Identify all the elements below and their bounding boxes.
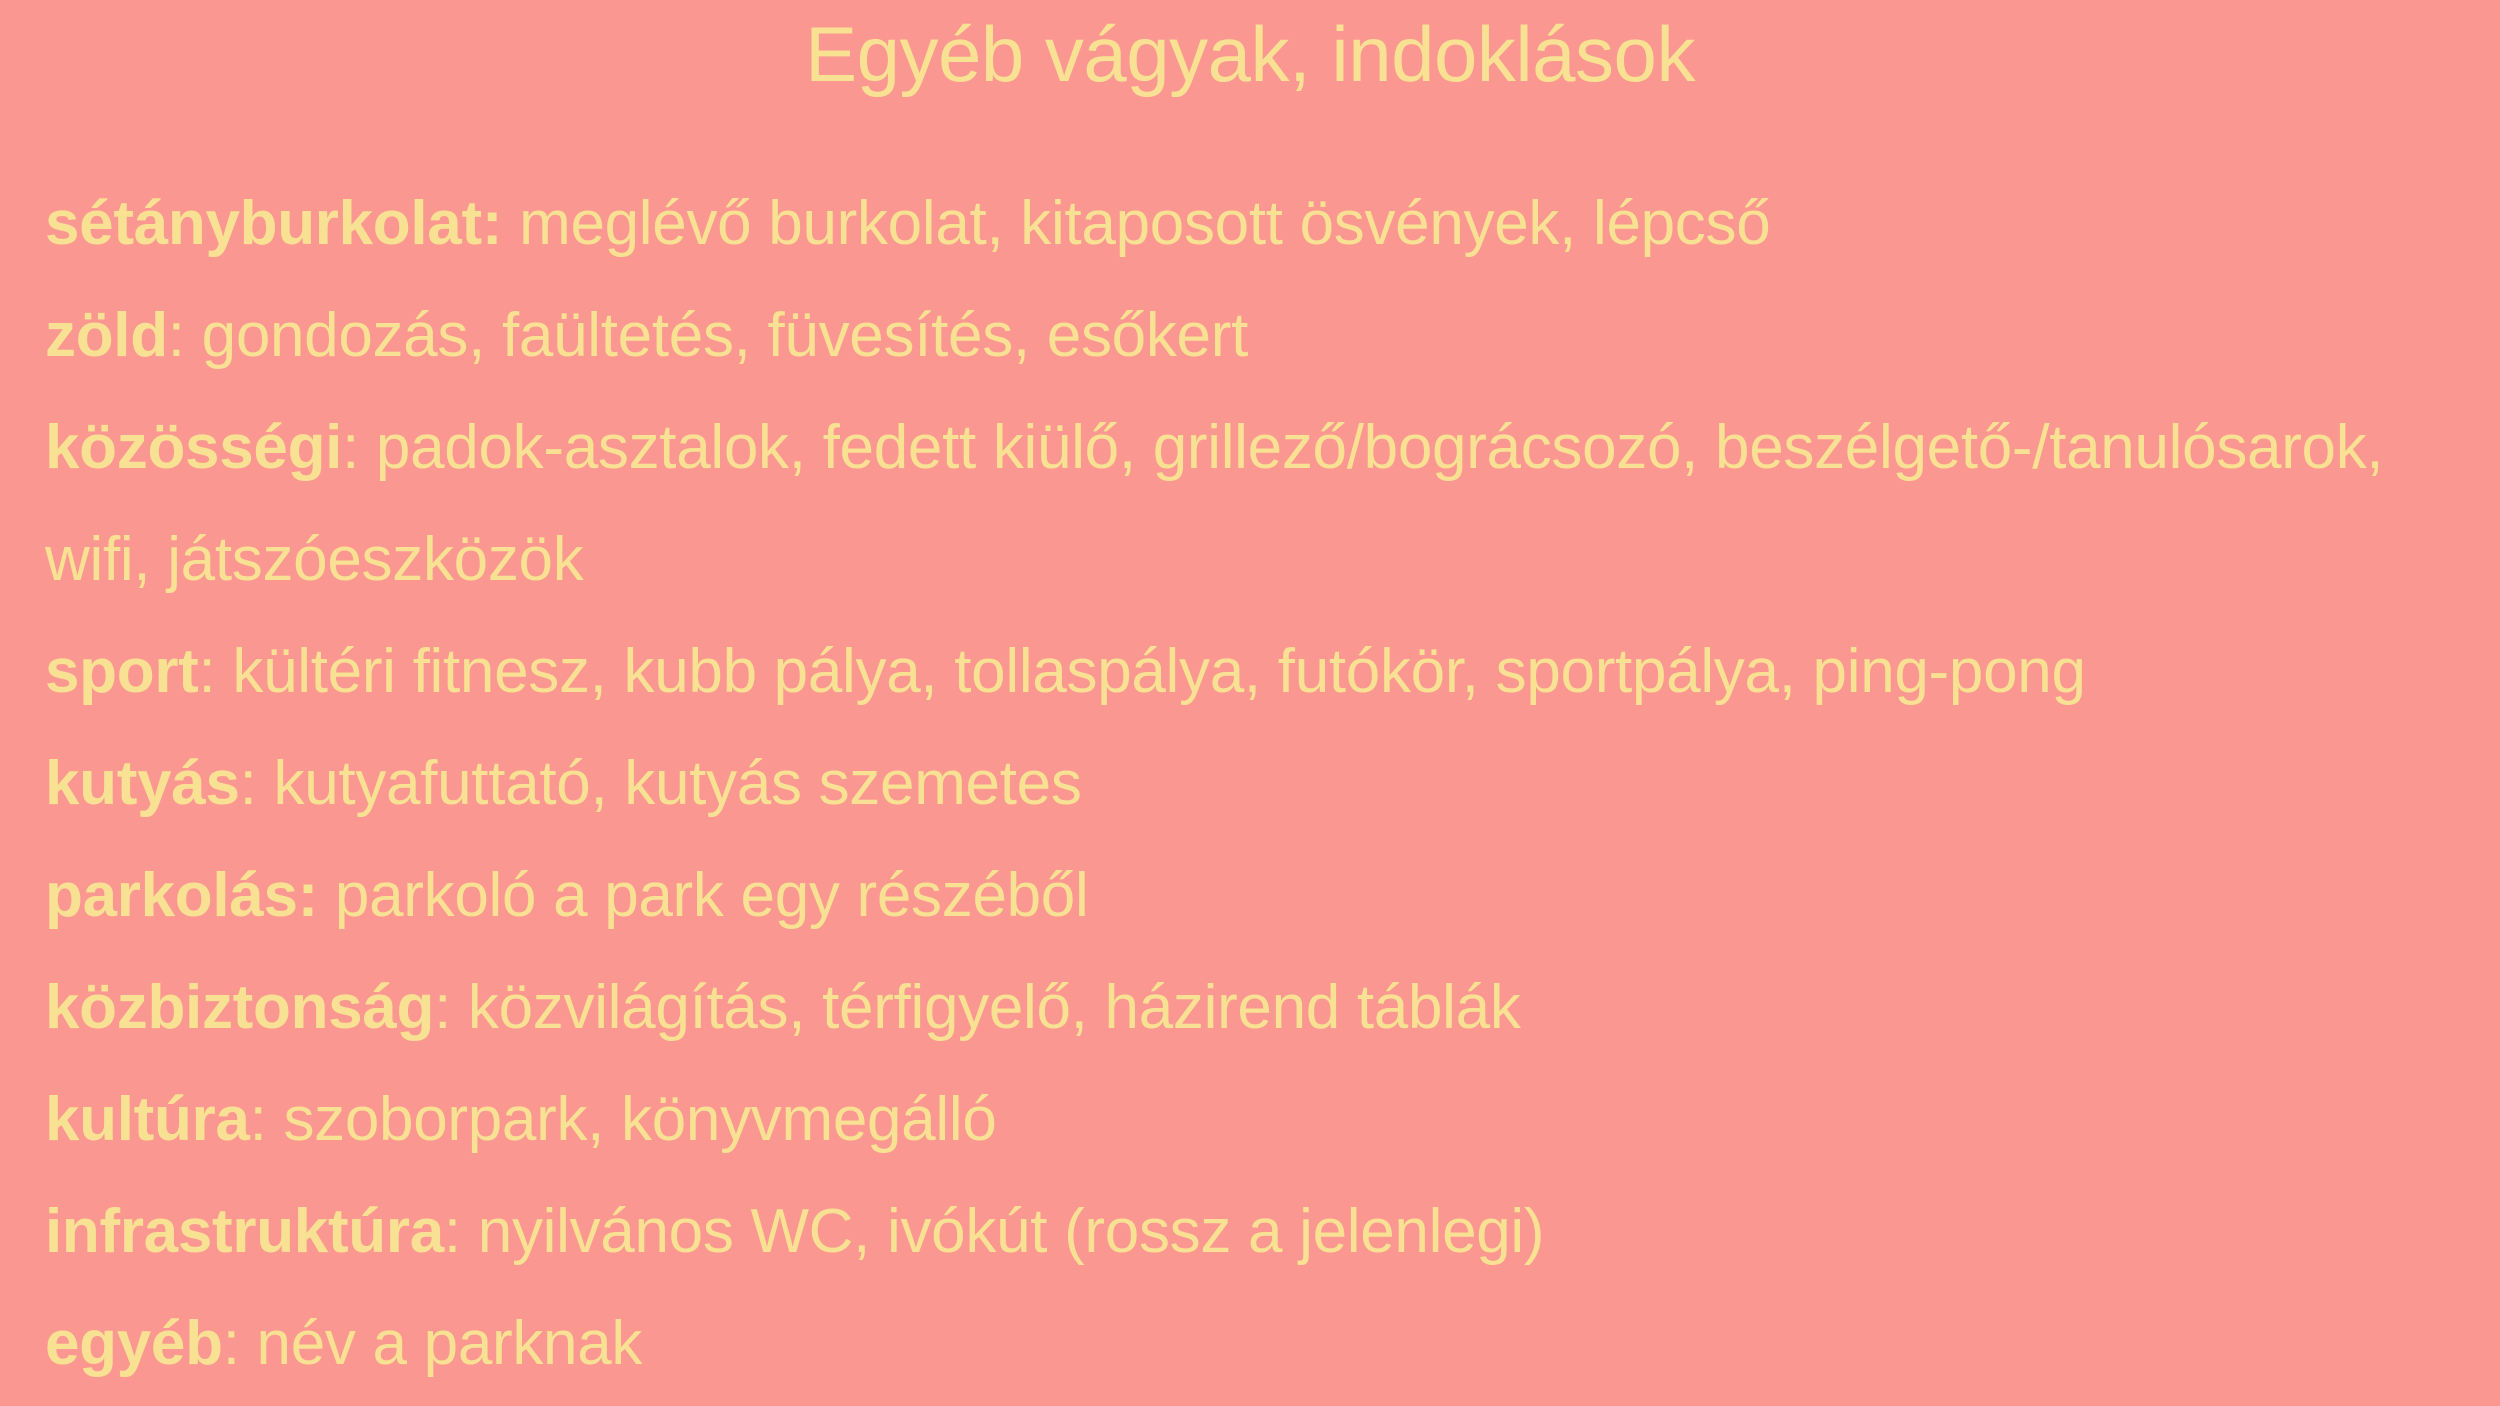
list-item: sétányburkolat: meglévő burkolat, kitapo… xyxy=(45,168,2465,280)
list-item-details: parkoló a park egy részéből xyxy=(318,861,1088,930)
list-item-details: meglévő burkolat, kitaposott ösvények, l… xyxy=(502,189,1770,258)
list-item-details: : kültéri fitnesz, kubb pálya, tollaspál… xyxy=(199,637,2086,706)
list-item: zöld: gondozás, faültetés, füvesítés, es… xyxy=(45,280,2465,392)
list-item-category: zöld xyxy=(45,301,168,370)
list-item: infrastruktúra: nyilvános WC, ivókút (ro… xyxy=(45,1176,2465,1288)
list-item-details: : közvilágítás, térfigyelő, házirend táb… xyxy=(434,973,1520,1042)
list-item: parkolás: parkoló a park egy részéből xyxy=(45,840,2465,952)
list-item: kutyás: kutyafuttató, kutyás szemetes xyxy=(45,728,2465,840)
list-item: sport: kültéri fitnesz, kubb pálya, toll… xyxy=(45,616,2465,728)
wishes-list: sétányburkolat: meglévő burkolat, kitapo… xyxy=(45,168,2465,1400)
list-item-details: : nyilvános WC, ivókút (rossz a jelenleg… xyxy=(444,1197,1544,1266)
list-item-details: : szoborpark, könyvmegálló xyxy=(250,1085,997,1154)
list-item-category: parkolás: xyxy=(45,861,318,930)
list-item-category: kultúra xyxy=(45,1085,250,1154)
list-item-category: közbiztonság xyxy=(45,973,434,1042)
list-item: kultúra: szoborpark, könyvmegálló xyxy=(45,1064,2465,1176)
list-item-details: : kutyafuttató, kutyás szemetes xyxy=(240,749,1082,818)
list-item-details: : padok-asztalok, fedett kiülő, grillező… xyxy=(45,413,2383,594)
list-item-details: : gondozás, faültetés, füvesítés, esőker… xyxy=(168,301,1248,370)
page-title: Egyéb vágyak, indoklások xyxy=(0,2,2500,106)
list-item-details: : név a parknak xyxy=(223,1309,642,1378)
list-item-category: egyéb xyxy=(45,1309,223,1378)
list-item: egyéb: név a parknak xyxy=(45,1288,2465,1400)
list-item-category: infrastruktúra xyxy=(45,1197,444,1266)
list-item-category: sétányburkolat: xyxy=(45,189,502,258)
list-item-category: sport xyxy=(45,637,199,706)
list-item-category: kutyás xyxy=(45,749,240,818)
list-item: közösségi: padok-asztalok, fedett kiülő,… xyxy=(45,392,2465,616)
slide-canvas: Egyéb vágyak, indoklások sétányburkolat:… xyxy=(0,0,2500,1406)
list-item-category: közösségi xyxy=(45,413,342,482)
list-item: közbiztonság: közvilágítás, térfigyelő, … xyxy=(45,952,2465,1064)
